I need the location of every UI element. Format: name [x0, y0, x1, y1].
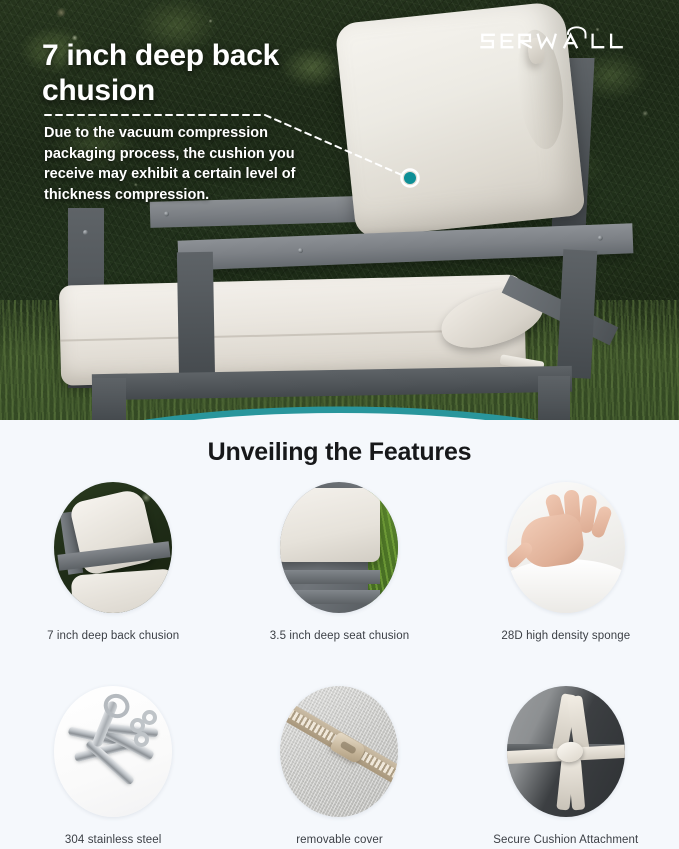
- product-feature-page: 7 inch deep back chusion Due to the vacu…: [0, 0, 679, 849]
- feature-item-seat-cushion[interactable]: 3.5 inch deep seat chusion: [226, 482, 452, 642]
- serwall-logo: [477, 26, 653, 56]
- chair-front-leg-post: [177, 252, 215, 385]
- section-title: Unveiling the Features: [0, 438, 679, 467]
- feature-label: 7 inch deep back chusion: [47, 630, 179, 642]
- chair-rear-post: [557, 249, 598, 379]
- hero-headline: 7 inch deep back chusion: [42, 38, 342, 109]
- screw-icon: [164, 211, 169, 216]
- feature-label: 3.5 inch deep seat chusion: [270, 630, 409, 642]
- screw-icon: [298, 248, 303, 253]
- feature-item-sponge[interactable]: 28D high density sponge: [453, 482, 679, 642]
- hero-description: Due to the vacuum compression packaging …: [44, 123, 334, 205]
- back-cushion-photo: [54, 482, 172, 613]
- screw-icon: [598, 235, 603, 240]
- feature-item-stainless-steel[interactable]: 304 stainless steel: [0, 686, 226, 846]
- feature-label: 28D high density sponge: [501, 630, 630, 642]
- features-row: 7 inch deep back chusion 3.5 inch deep s…: [0, 482, 679, 642]
- features-section: Unveiling the Features 7 inch deep back …: [0, 420, 679, 849]
- screw-icon: [83, 230, 88, 235]
- stainless-hardware-photo: [54, 686, 172, 817]
- feature-label: removable cover: [296, 834, 383, 846]
- cushion-tie-strap-photo: [507, 686, 625, 817]
- zipper-closeup-photo: [280, 686, 398, 817]
- feature-label: Secure Cushion Attachment: [493, 834, 638, 846]
- features-row: 304 stainless steel removable cover Secu…: [0, 686, 679, 846]
- features-grid: 7 inch deep back chusion 3.5 inch deep s…: [0, 482, 679, 846]
- feature-item-removable-cover[interactable]: removable cover: [226, 686, 452, 846]
- feature-label: 304 stainless steel: [65, 834, 162, 846]
- hero-banner: 7 inch deep back chusion Due to the vacu…: [0, 0, 679, 420]
- hand-pressing-sponge-photo: [507, 482, 625, 613]
- feature-item-cushion-attachment[interactable]: Secure Cushion Attachment: [453, 686, 679, 846]
- seat-cushion-photo: [280, 482, 398, 613]
- feature-item-back-cushion[interactable]: 7 inch deep back chusion: [0, 482, 226, 642]
